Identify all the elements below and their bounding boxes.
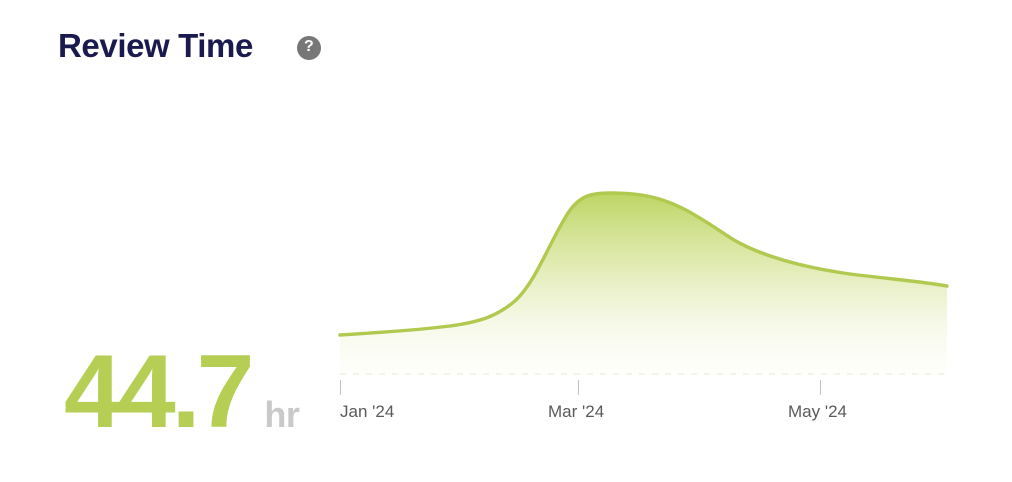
chart-svg	[330, 150, 970, 440]
tick-label-jan: Jan '24	[340, 402, 394, 422]
review-time-card: Review Time ? 44.7 hr	[0, 0, 1012, 482]
tick-mark-may	[820, 380, 821, 395]
metric-unit: hr	[264, 395, 299, 435]
tick-label-mar: Mar '24	[548, 402, 604, 422]
help-icon[interactable]: ?	[297, 36, 321, 60]
review-time-area-chart[interactable]: Jan '24 Mar '24 May '24	[330, 150, 970, 440]
metric-display: 44.7 hr	[64, 344, 299, 440]
area-fill	[340, 193, 947, 375]
tick-label-may: May '24	[788, 402, 847, 422]
question-mark-glyph: ?	[304, 39, 314, 55]
metric-value: 44.7	[64, 344, 250, 440]
page-title: Review Time	[58, 26, 253, 66]
card-header: Review Time ?	[58, 26, 321, 66]
tick-mark-jan	[340, 380, 341, 395]
tick-mark-mar	[578, 380, 579, 395]
